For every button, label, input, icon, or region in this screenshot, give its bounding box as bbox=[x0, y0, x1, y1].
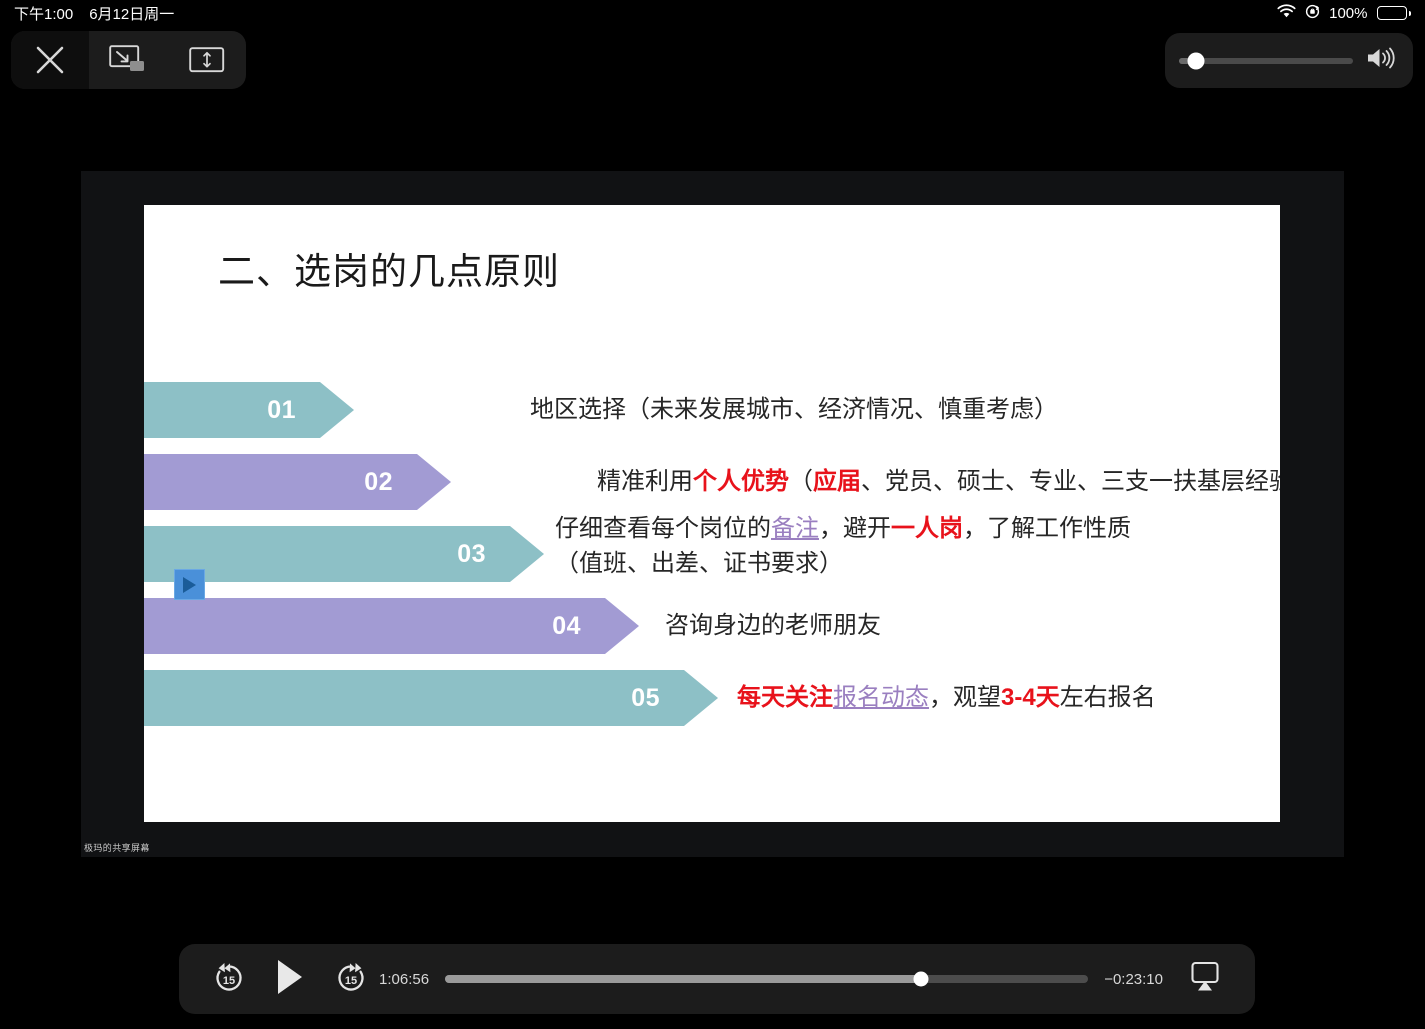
text-segment: ，观望 bbox=[929, 681, 1001, 716]
principle-text-03: 仔细查看每个岗位的备注，避开一人岗，了解工作性质（值班、出差、证书要求） bbox=[555, 512, 1131, 582]
svg-text:15: 15 bbox=[345, 975, 357, 987]
arrow-number: 04 bbox=[552, 612, 581, 641]
text-segment: 备注 bbox=[771, 515, 819, 542]
arrow-number: 02 bbox=[364, 468, 393, 497]
playback-controls: 15 15 1:06:56 −0:23:10 bbox=[179, 944, 1255, 1014]
principle-rows: 01 地区选择（未来发展城市、经济情况、慎重考虑） 02 精准利用个人优势（应届… bbox=[144, 382, 1280, 742]
arrow-number: 01 bbox=[267, 396, 296, 425]
arrow-shape-01: 01 bbox=[144, 382, 354, 438]
arrow-shape-04: 04 bbox=[144, 598, 639, 654]
play-triangle-icon bbox=[183, 577, 196, 593]
text-segment: 个人优势 bbox=[693, 465, 789, 500]
text-segment: 仔细查看每个岗位的 bbox=[555, 515, 771, 542]
text-segment: （ bbox=[789, 465, 813, 500]
principle-text-05: 每天关注报名动态，观望3-4天左右报名 bbox=[737, 670, 1156, 726]
text-segment: ，了解工作性质 bbox=[963, 515, 1131, 542]
text-segment: （值班、出差、证书要求） bbox=[555, 550, 843, 577]
text-segment: 3-4天 bbox=[1001, 681, 1060, 716]
slide-title: 二、选岗的几点原则 bbox=[218, 241, 560, 295]
presentation-slide: 二、选岗的几点原则 01 地区选择（未来发展城市、经济情况、慎重考虑） 02 精… bbox=[144, 205, 1280, 822]
rewind-15-button[interactable]: 15 bbox=[201, 959, 257, 1000]
svg-text:15: 15 bbox=[223, 975, 235, 987]
arrow-shape-02: 02 bbox=[144, 454, 451, 510]
principle-row: 04 咨询身边的老师朋友 bbox=[144, 598, 1280, 670]
text-segment: 每天关注 bbox=[737, 681, 833, 716]
text-segment: 一人岗 bbox=[891, 515, 963, 542]
remaining-time: −0:23:10 bbox=[1104, 971, 1163, 988]
shared-screen-label: 极玛的共享屏幕 bbox=[84, 841, 150, 854]
forward-15-icon: 15 bbox=[333, 959, 369, 1000]
elapsed-time: 1:06:56 bbox=[379, 971, 429, 988]
text-segment: 、党员、硕士、专业、三支一扶基层经验） bbox=[861, 465, 1280, 500]
principle-row: 05 每天关注报名动态，观望3-4天左右报名 bbox=[144, 670, 1280, 742]
text-segment: ，避开 bbox=[819, 515, 891, 542]
video-stage[interactable]: 极玛的共享屏幕 二、选岗的几点原则 01 地区选择（未来发展城市、经济情况、慎重… bbox=[0, 0, 1425, 1029]
forward-15-button[interactable]: 15 bbox=[323, 959, 379, 1000]
progress-knob[interactable] bbox=[913, 972, 928, 987]
embedded-media-play-button[interactable] bbox=[174, 569, 205, 600]
text-segment: 左右报名 bbox=[1060, 681, 1156, 716]
airplay-button[interactable] bbox=[1177, 961, 1233, 998]
play-icon bbox=[275, 958, 305, 1001]
text-segment: 地区选择（未来发展城市、经济情况、慎重考虑） bbox=[530, 393, 1058, 428]
text-line: （值班、出差、证书要求） bbox=[555, 547, 1131, 582]
principle-text-04: 咨询身边的老师朋友 bbox=[665, 598, 881, 654]
progress-fill bbox=[445, 975, 921, 983]
text-segment: 应届 bbox=[813, 465, 861, 500]
text-segment: 咨询身边的老师朋友 bbox=[665, 609, 881, 644]
rewind-15-icon: 15 bbox=[211, 959, 247, 1000]
principle-row: 03 仔细查看每个岗位的备注，避开一人岗，了解工作性质（值班、出差、证书要求） bbox=[144, 526, 1280, 598]
arrow-shape-05: 05 bbox=[144, 670, 718, 726]
principle-text-01: 地区选择（未来发展城市、经济情况、慎重考虑） bbox=[530, 382, 1058, 438]
arrow-number: 05 bbox=[631, 684, 660, 713]
progress-slider[interactable] bbox=[445, 975, 1088, 983]
airplay-icon bbox=[1190, 961, 1220, 998]
text-line: 仔细查看每个岗位的备注，避开一人岗，了解工作性质 bbox=[555, 512, 1131, 547]
principle-row: 01 地区选择（未来发展城市、经济情况、慎重考虑） bbox=[144, 382, 1280, 454]
principle-text-02: 精准利用个人优势（应届、党员、硕士、专业、三支一扶基层经验） bbox=[597, 454, 1280, 510]
play-button[interactable] bbox=[257, 958, 323, 1001]
text-segment: 精准利用 bbox=[597, 465, 693, 500]
arrow-number: 03 bbox=[457, 540, 486, 569]
text-segment: 报名动态 bbox=[833, 681, 929, 716]
